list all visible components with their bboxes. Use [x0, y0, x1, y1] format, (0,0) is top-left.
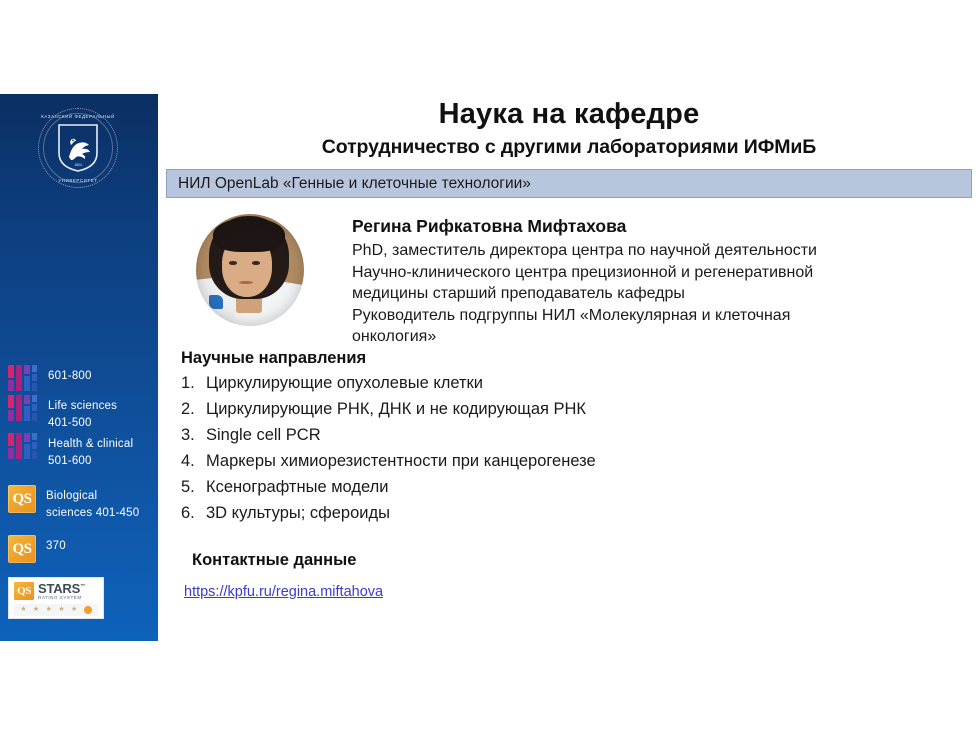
person-name: Регина Рифкатовна Мифтахова	[352, 216, 626, 237]
ranking-line: 370	[46, 538, 66, 555]
ranking-text: 370	[46, 534, 66, 555]
page-subtitle: Сотрудничество с другими лабораториями И…	[166, 136, 972, 159]
list-item-number: 2.	[181, 396, 206, 422]
qs-stars-rating-row: ★ ★ ★ ★ ★	[14, 604, 98, 616]
contacts-link[interactable]: https://kpfu.ru/regina.miftahova	[184, 584, 383, 600]
qs-stars-mark-icon: QS	[14, 582, 34, 600]
ranking-row: QS Biological sciences 401-450	[0, 484, 158, 522]
qs-logo-text: QS	[12, 542, 31, 557]
qs-stars-badge: QS STARS™ RATING SYSTEM ★ ★ ★ ★ ★	[8, 577, 104, 619]
list-item-label: Циркулирующие опухолевые клетки	[206, 370, 483, 396]
star-icon: ★	[20, 606, 26, 613]
list-item-label: Single cell PCR	[206, 422, 321, 448]
list-item-number: 1.	[181, 370, 206, 396]
list-item: 2. Циркулирующие РНК, ДНК и не кодирующа…	[181, 396, 901, 422]
qs-stars-header: QS STARS™ RATING SYSTEM	[14, 582, 98, 601]
the-logo-icon	[8, 365, 38, 391]
qs-stars-word: STARS™	[38, 582, 85, 595]
star-icon: ★	[71, 606, 77, 613]
list-item: 5. Ксенографтные модели	[181, 474, 901, 500]
ranking-text: Health & clinical 501-600	[48, 432, 133, 470]
research-heading: Научные направления	[181, 349, 366, 368]
person-description: PhD, заместитель директора центра по нау…	[352, 240, 952, 348]
person-description-line: онкология»	[352, 326, 952, 348]
slide-canvas: КАЗАНСКИЙ ФЕДЕРАЛЬНЫЙ УНИВЕРСИТЕТ 1804	[0, 0, 980, 735]
list-item: 4. Маркеры химиорезистентности при канце…	[181, 448, 901, 474]
list-item: 1. Циркулирующие опухолевые клетки	[181, 370, 901, 396]
page-title: Наука на кафедре	[166, 98, 972, 131]
person-description-line: Научно-клинического центра прецизионной …	[352, 262, 952, 284]
qs-stars-subtitle: RATING SYSTEM	[38, 596, 85, 601]
ranking-line: Health & clinical	[48, 436, 133, 453]
list-item: 3. Single cell PCR	[181, 422, 901, 448]
list-item-number: 3.	[181, 422, 206, 448]
contacts-heading: Контактные данные	[192, 551, 356, 570]
the-logo-icon	[8, 433, 38, 459]
star-icon: ★	[58, 606, 64, 613]
ranking-line: 601-800	[48, 368, 92, 385]
ranking-row: Life sciences 401-500	[0, 394, 158, 432]
qs-logo-icon: QS	[8, 535, 36, 563]
ranking-text: 601-800	[48, 364, 92, 385]
person-description-line: PhD, заместитель директора центра по нау…	[352, 240, 952, 262]
star-icon: ★	[33, 606, 39, 613]
the-logo-icon	[8, 395, 38, 421]
ranking-text: Life sciences 401-500	[48, 394, 117, 432]
kfu-emblem: КАЗАНСКИЙ ФЕДЕРАЛЬНЫЙ УНИВЕРСИТЕТ 1804	[38, 108, 118, 188]
emblem-shield-icon: 1804	[57, 123, 99, 173]
emblem-arc-bottom-text: УНИВЕРСИТЕТ	[38, 178, 118, 183]
list-item-label: 3D культуры; сфероиды	[206, 500, 390, 526]
ranking-line: Biological	[46, 488, 139, 505]
qs-stars-wordmark: STARS™ RATING SYSTEM	[38, 582, 85, 601]
qs-stars-trademark: ™	[80, 584, 85, 590]
emblem-arc-top-text: КАЗАНСКИЙ ФЕДЕРАЛЬНЫЙ	[38, 114, 118, 119]
sidebar: КАЗАНСКИЙ ФЕДЕРАЛЬНЫЙ УНИВЕРСИТЕТ 1804	[0, 94, 158, 641]
list-item-label: Циркулирующие РНК, ДНК и не кодирующая Р…	[206, 396, 586, 422]
list-item-label: Ксенографтные модели	[206, 474, 388, 500]
research-list: 1. Циркулирующие опухолевые клетки 2. Ци…	[181, 370, 901, 526]
ranking-row: Health & clinical 501-600	[0, 432, 158, 470]
list-item-label: Маркеры химиорезистентности при канцерог…	[206, 448, 596, 474]
star-icon: ★	[46, 606, 52, 613]
person-description-line: медицины старший преподаватель кафедры	[352, 283, 952, 305]
ranking-line: Life sciences	[48, 398, 117, 415]
photo-vignette	[196, 214, 304, 326]
qs-stars-mark-text: QS	[17, 586, 31, 597]
avatar	[196, 214, 304, 326]
list-item-number: 4.	[181, 448, 206, 474]
list-item-number: 5.	[181, 474, 206, 500]
star-highlight-dot-icon	[84, 606, 92, 614]
ranking-line: sciences 401-450	[46, 505, 139, 522]
ranking-line: 501-600	[48, 453, 133, 470]
person-description-line: Руководитель подгруппы НИЛ «Молекулярная…	[352, 305, 952, 327]
ranking-text: Biological sciences 401-450	[46, 484, 139, 522]
rankings-list: 601-800 Life	[0, 364, 158, 564]
list-item: 6. 3D культуры; сфероиды	[181, 500, 901, 526]
lab-banner: НИЛ OpenLab «Генные и клеточные технолог…	[166, 169, 972, 198]
qs-logo-icon: QS	[8, 485, 36, 513]
svg-text:1804: 1804	[74, 163, 82, 167]
ranking-line: 401-500	[48, 415, 117, 432]
qs-logo-text: QS	[12, 492, 31, 507]
list-item-number: 6.	[181, 500, 206, 526]
ranking-row: QS 370	[0, 534, 158, 564]
ranking-row: 601-800	[0, 364, 158, 394]
